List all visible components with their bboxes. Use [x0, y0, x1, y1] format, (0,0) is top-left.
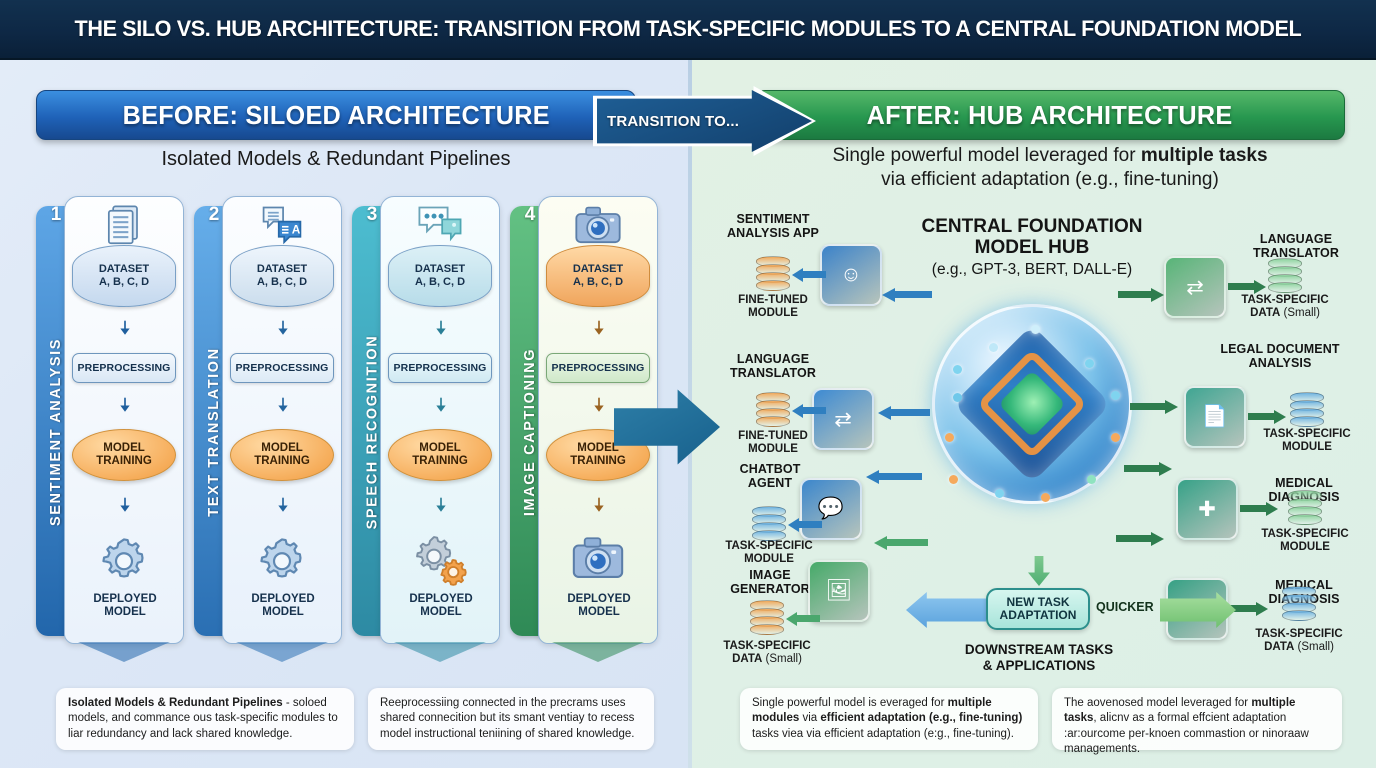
silo-column-2: 2TEXT TRANSLATIONADATASETA, B, C, DPREPR…: [194, 196, 342, 656]
silo-preprocessing-1: PREPROCESSING: [72, 353, 176, 383]
silo-deployed-label-1: DEPLOYEDMODEL: [65, 593, 185, 619]
silo-flow-arrow: [433, 387, 447, 428]
arrow-shaft: [800, 407, 826, 414]
hub-right-artifact-db-2: [1290, 392, 1324, 428]
silo-flow-arrow: [275, 387, 289, 428]
hub-left-artifact-db-2: [756, 392, 790, 428]
foundation-cube-icon: [953, 325, 1111, 483]
hub-left-outflow-arrow-2: [878, 406, 930, 419]
silo-tip-3: [394, 642, 486, 662]
silo-flow-arrow: [591, 311, 605, 350]
silo-dataset-3: DATASETA, B, C, D: [388, 245, 492, 307]
hub-right-module-arrow-1: [1228, 280, 1266, 293]
silo-body-3: DATASETA, B, C, DPREPROCESSINGMODELTRAIN…: [380, 196, 500, 644]
arrow-shaft: [1118, 291, 1151, 298]
hub-right-artifact-label-2: TASK-SPECIFICMODULE: [1246, 428, 1368, 454]
arrow-head: [792, 404, 803, 418]
arrow-head: [786, 612, 797, 626]
silo-model-training-3: MODELTRAINING: [388, 429, 492, 481]
after-subtitle-line2: via efficient adaptation (e.g., fine-tun…: [881, 169, 1219, 190]
hub-right-task-label-2: LEGAL DOCUMENTANALYSIS: [1216, 342, 1344, 370]
arrow-head: [1159, 462, 1172, 476]
arrow-head: [788, 518, 799, 532]
arrow-shaft: [794, 615, 820, 622]
hub-left-outflow-arrow-1: [882, 288, 932, 301]
hub-title-line2: MODEL HUB: [975, 237, 1090, 258]
arrow-head: [1254, 280, 1266, 294]
hub-right-module-arrow-3: [1240, 502, 1278, 515]
arrow-head: [1151, 532, 1164, 546]
hub-right-task-label-1: LANGUAGETRANSLATOR: [1232, 232, 1360, 260]
hub-right-legal-doc-cube-icon-2: 📄: [1184, 386, 1246, 448]
hub-right-artifact-label-4: TASK-SPECIFICDATA (Small): [1238, 628, 1360, 654]
silo-dataset-2: DATASETA, B, C, D: [230, 245, 334, 307]
after-banner-label: AFTER: HUB ARCHITECTURE: [867, 100, 1233, 131]
after-banner: AFTER: HUB ARCHITECTURE: [755, 90, 1345, 140]
silo-column-1: 1SENTIMENT ANALYSISDATASETA, B, C, DPREP…: [36, 196, 184, 656]
caption-segment-4: tasks viea via efficient adaptation (e:g…: [752, 728, 1014, 740]
arrow-shaft: [1248, 413, 1276, 420]
hub-subtitle: (e.g., GPT-3, BERT, DALL-E): [882, 261, 1182, 279]
silo-tip-2: [236, 642, 328, 662]
before-banner: BEFORE: SILOED ARCHITECTURE: [36, 90, 636, 140]
arrow-shaft: [1240, 505, 1268, 512]
silo-model-training-2: MODELTRAINING: [230, 429, 334, 481]
silo-preprocessing-2: PREPROCESSING: [230, 353, 334, 383]
hub-left-artifact-label-4: TASK-SPECIFICDATA (Small): [708, 640, 826, 666]
arrow-shaft: [890, 409, 930, 416]
network-node-11: [989, 343, 998, 352]
silo-flow-arrow: [591, 387, 605, 428]
caption-card-1: Isolated Models & Redundant Pipelines - …: [56, 688, 354, 750]
silo-preprocessing-3: PREPROCESSING: [388, 353, 492, 383]
silo-flow-arrow: [275, 311, 289, 350]
arrow-shaft: [1116, 535, 1151, 542]
hub-left-artifact-label-1: FINE-TUNEDMODULE: [714, 294, 832, 320]
hub-right-translate-gear-cube-icon-1: ⇄: [1164, 256, 1226, 318]
silo-flow-arrow: [433, 311, 447, 350]
transition-arrow: TRANSITION TO...: [597, 90, 812, 152]
silo-dataset-1: DATASETA, B, C, D: [72, 245, 176, 307]
infographic-root: THE SILO VS. HUB ARCHITECTURE: TRANSITIO…: [0, 0, 1376, 768]
before-banner-label: BEFORE: SILOED ARCHITECTURE: [122, 100, 549, 131]
silo-preprocessing-4: PREPROCESSING: [546, 353, 650, 383]
hub-right-outflow-arrow-2: [1130, 400, 1178, 413]
hub-left-translate-cube-icon-2: ⇄: [812, 388, 874, 450]
caption-2-text: Reeprocessiing connected in the precrams…: [380, 697, 634, 740]
hub-right-medical-kit-cube-icon-3: ✚: [1176, 478, 1238, 540]
silo-deployed-gear-icon-2: [251, 531, 313, 589]
hub-right-artifact-db-4: [1282, 586, 1316, 622]
silo-deployed-gear-icon-1: [93, 531, 155, 589]
arrow-shaft: [1228, 283, 1256, 290]
network-node-9: [1085, 359, 1094, 368]
hub-right-artifact-label-3: TASK-SPECIFICMODULE: [1244, 528, 1366, 554]
arrow-head: [874, 536, 887, 550]
silo-dataset-4: DATASETA, B, C, D: [546, 245, 650, 307]
silo-tip-1: [78, 642, 170, 662]
arrow-head: [882, 288, 895, 302]
silo-deployed-label-2: DEPLOYEDMODEL: [223, 593, 343, 619]
downstream-tasks-label: DOWNSTREAM TASKS & APPLICATIONS: [930, 642, 1148, 673]
network-node-4: [995, 489, 1004, 498]
hub-title-line1: CENTRAL FOUNDATION: [922, 216, 1143, 237]
network-node-8: [1111, 391, 1120, 400]
hub-right-outflow-arrow-1: [1118, 288, 1164, 301]
downstream-line1: DOWNSTREAM TASKS: [965, 642, 1113, 657]
arrow-head: [1256, 602, 1268, 616]
hub-left-module-arrow-1: [792, 268, 826, 281]
caption-segment-3: efficient adaptation (e.g., fine-tuning): [820, 712, 1022, 724]
caption-1-bold: Isolated Models & Redundant Pipelines: [68, 697, 283, 709]
hub-right-module-arrow-4: [1230, 602, 1268, 615]
arrow-shaft: [800, 271, 826, 278]
network-node-6: [1087, 475, 1096, 484]
arrow-shaft: [1130, 403, 1165, 410]
silo-deployed-label-4: DEPLOYEDMODEL: [539, 593, 659, 619]
after-subtitle-bold: multiple tasks: [1141, 145, 1268, 166]
network-node-1: [953, 393, 962, 402]
hub-left-task-label-1: SENTIMENTANALYSIS APP: [718, 212, 828, 240]
after-subtitle-pre: Single powerful model leveraged for: [832, 145, 1140, 166]
network-node-0: [953, 365, 962, 374]
silo-deployed-camera-icon-4: [567, 531, 629, 589]
page-title-bar: THE SILO VS. HUB ARCHITECTURE: TRANSITIO…: [0, 0, 1376, 60]
hub-right-artifact-label-1: TASK-SPECIFICDATA (Small): [1224, 294, 1346, 320]
new-task-adaptation-box: NEW TASK ADAPTATION: [986, 588, 1090, 630]
hub-right-artifact-db-3: [1288, 490, 1322, 526]
arrow-shaft: [1124, 465, 1159, 472]
silo-flow-arrow: [433, 487, 447, 528]
hub-left-artifact-db-4: [750, 600, 784, 636]
caption-card-3: Single powerful model is everaged for mu…: [740, 688, 1038, 750]
arrow-head: [1151, 288, 1164, 302]
network-node-10: [1031, 325, 1040, 334]
caption-card-2: Reeprocessiing connected in the precrams…: [368, 688, 654, 750]
svg-text:A: A: [292, 223, 301, 237]
silo-flow-arrow: [117, 311, 131, 350]
hub-left-module-arrow-2: [792, 404, 826, 417]
arrow-head: [1274, 410, 1286, 424]
silo-flow-arrow: [117, 387, 131, 428]
hub-right-artifact-db-1: [1268, 258, 1302, 294]
hub-left-module-arrow-3: [788, 518, 822, 531]
new-task-line1: NEW TASK: [1006, 596, 1069, 609]
hub-right-outflow-arrow-3: [1124, 462, 1172, 475]
new-task-line2: ADAPTATION: [1000, 609, 1077, 622]
hub-left-artifact-db-3: [752, 506, 786, 542]
hub-left-emoji-faces-cube-icon-1: ☺: [820, 244, 882, 306]
arrow-head: [1165, 400, 1178, 414]
silo-flow-arrow: [591, 487, 605, 528]
arrow-head: [878, 406, 891, 420]
quicker-label: QUICKER: [1096, 600, 1154, 614]
hub-left-artifact-db-1: [756, 256, 790, 292]
transition-label: TRANSITION TO...: [607, 90, 739, 152]
arrow-shaft: [796, 521, 822, 528]
caption-segment-2: , alicnv as a formal effcient adaptation…: [1064, 712, 1309, 755]
hub-right-module-arrow-2: [1248, 410, 1286, 423]
after-subtitle: Single powerful model leveraged for mult…: [720, 144, 1376, 193]
silo-deployed-double-gear-icon-3: [409, 531, 471, 589]
central-foundation-model-sphere: [932, 304, 1132, 504]
page-title: THE SILO VS. HUB ARCHITECTURE: TRANSITIO…: [75, 16, 1302, 42]
arrow-shaft: [878, 473, 922, 480]
arrow-shaft: [886, 539, 928, 546]
network-node-2: [945, 433, 954, 442]
silo-column-3: 3SPEECH RECOGNITIONDATASETA, B, C, DPREP…: [352, 196, 500, 656]
arrow-shaft: [894, 291, 932, 298]
network-node-3: [949, 475, 958, 484]
hub-left-task-label-2: LANGUAGETRANSLATOR: [718, 352, 828, 380]
silo-deployed-label-3: DEPLOYEDMODEL: [381, 593, 501, 619]
caption-segment-0: Single powerful model is everaged for: [752, 697, 948, 709]
hub-right-outflow-arrow-4: [1116, 532, 1164, 545]
downstream-line2: & APPLICATIONS: [983, 658, 1096, 673]
network-node-7: [1111, 433, 1120, 442]
hub-left-outflow-arrow-3: [866, 470, 922, 483]
silo-flow-arrow: [117, 487, 131, 528]
hub-title-block: CENTRAL FOUNDATIONMODEL HUB (e.g., GPT-3…: [882, 216, 1182, 279]
network-node-5: [1041, 493, 1050, 502]
silo-tip-4: [552, 642, 644, 662]
before-subtitle: Isolated Models & Redundant Pipelines: [36, 148, 636, 171]
arrow-head: [792, 268, 803, 282]
silo-flow-arrow: [275, 487, 289, 528]
arrow-head: [866, 470, 879, 484]
hub-left-module-arrow-4: [786, 612, 820, 625]
caption-card-4: The aovenosed model leveraged for multip…: [1052, 688, 1342, 750]
silo-body-1: DATASETA, B, C, DPREPROCESSINGMODELTRAIN…: [64, 196, 184, 644]
arrow-head: [1266, 502, 1278, 516]
hub-left-outflow-arrow-4: [874, 536, 928, 549]
caption-segment-0: The aovenosed model leveraged for: [1064, 697, 1251, 709]
silo-model-training-1: MODELTRAINING: [72, 429, 176, 481]
caption-segment-2: via: [799, 712, 820, 724]
silo-body-2: ADATASETA, B, C, DPREPROCESSINGMODELTRAI…: [222, 196, 342, 644]
